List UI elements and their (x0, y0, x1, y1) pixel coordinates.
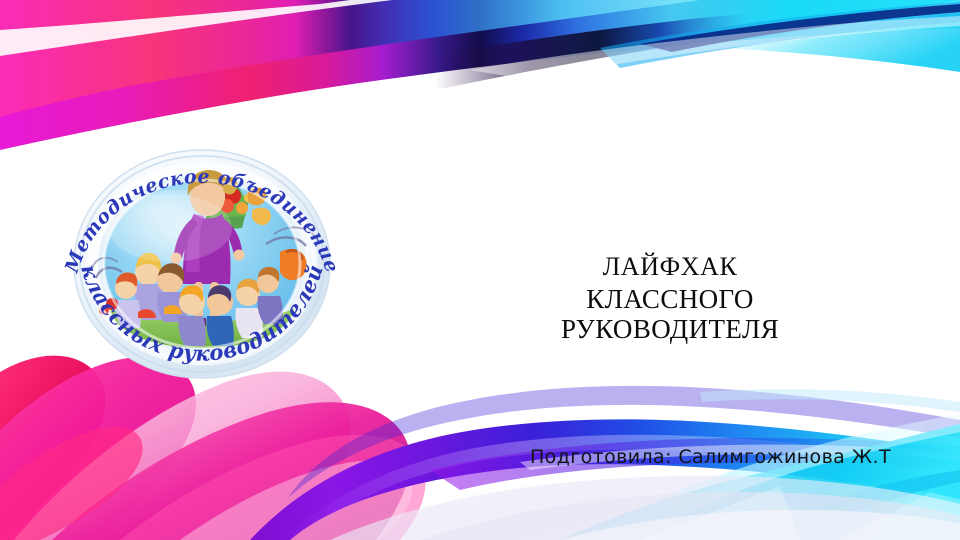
title-line-3: РУКОВОДИТЕЛЯ (470, 314, 870, 345)
title-line-1: ЛАЙФХАК (470, 252, 870, 282)
mo-logo: Методическое объединение классных руково… (52, 112, 352, 402)
slide-subtitle-author: Подготовила: Салимгожинова Ж.Т (530, 446, 891, 468)
slide-title: ЛАЙФХАК КЛАССНОГО РУКОВОДИТЕЛЯ (470, 252, 870, 345)
presentation-slide: Методическое объединение классных руково… (0, 0, 960, 540)
title-line-2: КЛАССНОГО (470, 284, 870, 315)
